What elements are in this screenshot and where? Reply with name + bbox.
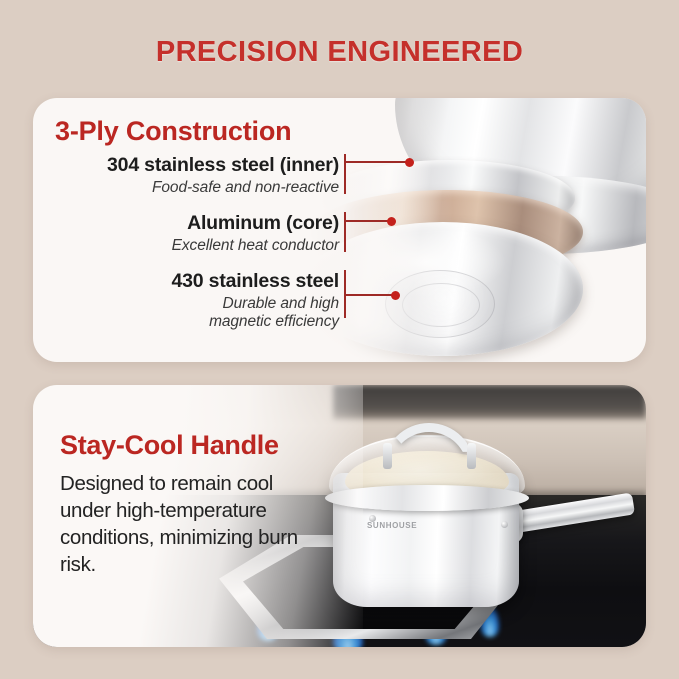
three-ply-construction-card: 3-Ply Construction 304 stainless steel (… <box>33 98 646 362</box>
stay-cool-handle-heading: Stay-Cool Handle <box>60 430 279 461</box>
lid-handle-post-right <box>467 443 476 469</box>
callout-bracket-2 <box>344 212 346 252</box>
layer-subtitle-line2: magnetic efficiency <box>49 313 339 331</box>
layer-subtitle-line1: Durable and high <box>49 295 339 313</box>
pan-rivet <box>369 515 376 522</box>
page-title: PRECISION ENGINEERED <box>0 36 679 69</box>
layer-label-304-stainless: 304 stainless steel (inner) Food-safe an… <box>49 154 339 197</box>
lid-handle-post-left <box>383 443 392 469</box>
callout-connector-430-stainless <box>344 294 396 296</box>
callout-bracket-1 <box>344 154 346 194</box>
three-ply-heading: 3-Ply Construction <box>55 116 291 147</box>
layer-title: 304 stainless steel (inner) <box>49 154 339 177</box>
layer-subtitle: Durable and high magnetic efficiency <box>49 295 339 332</box>
exploded-disc-illustration <box>303 98 646 362</box>
handle-rivet <box>501 521 508 528</box>
stay-cool-handle-card: SUNHOUSE Stay-Cool Handle Designed to re… <box>33 385 646 647</box>
countertop-dark-band <box>333 385 646 419</box>
layer-label-aluminum-core: Aluminum (core) Excellent heat conductor <box>49 212 339 255</box>
callout-connector-304-stainless <box>344 161 410 163</box>
layer-title: Aluminum (core) <box>49 212 339 235</box>
stay-cool-handle-body: Designed to remain cool under high-tempe… <box>60 470 305 578</box>
callout-connector-aluminum-core <box>344 220 392 222</box>
layer-title: 430 stainless steel <box>49 270 339 293</box>
layer-label-430-stainless: 430 stainless steel Durable and high mag… <box>49 270 339 332</box>
layer-subtitle: Food-safe and non-reactive <box>49 179 339 197</box>
saucepan-brand-label: SUNHOUSE <box>367 521 417 530</box>
layer-subtitle: Excellent heat conductor <box>49 237 339 255</box>
